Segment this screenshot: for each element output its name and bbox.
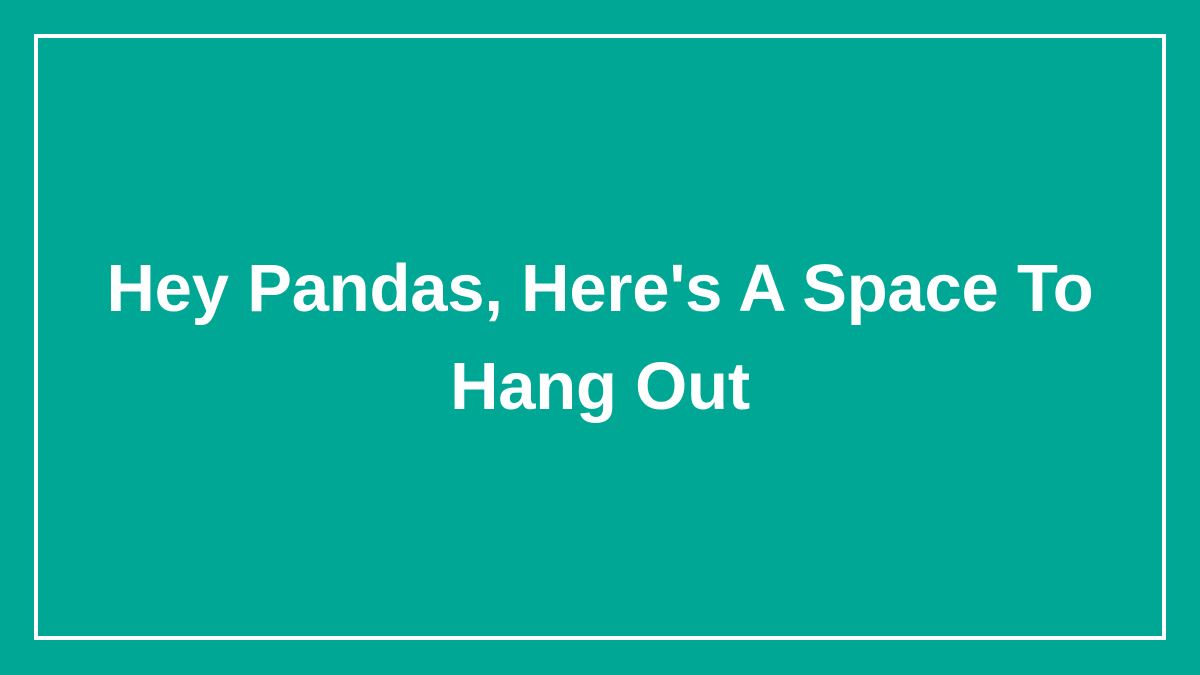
poster-content-area: Hey Pandas, Here's A Space To Hang Out <box>34 34 1166 640</box>
poster-canvas: Hey Pandas, Here's A Space To Hang Out <box>0 0 1200 675</box>
page-title: Hey Pandas, Here's A Space To Hang Out <box>52 240 1148 436</box>
